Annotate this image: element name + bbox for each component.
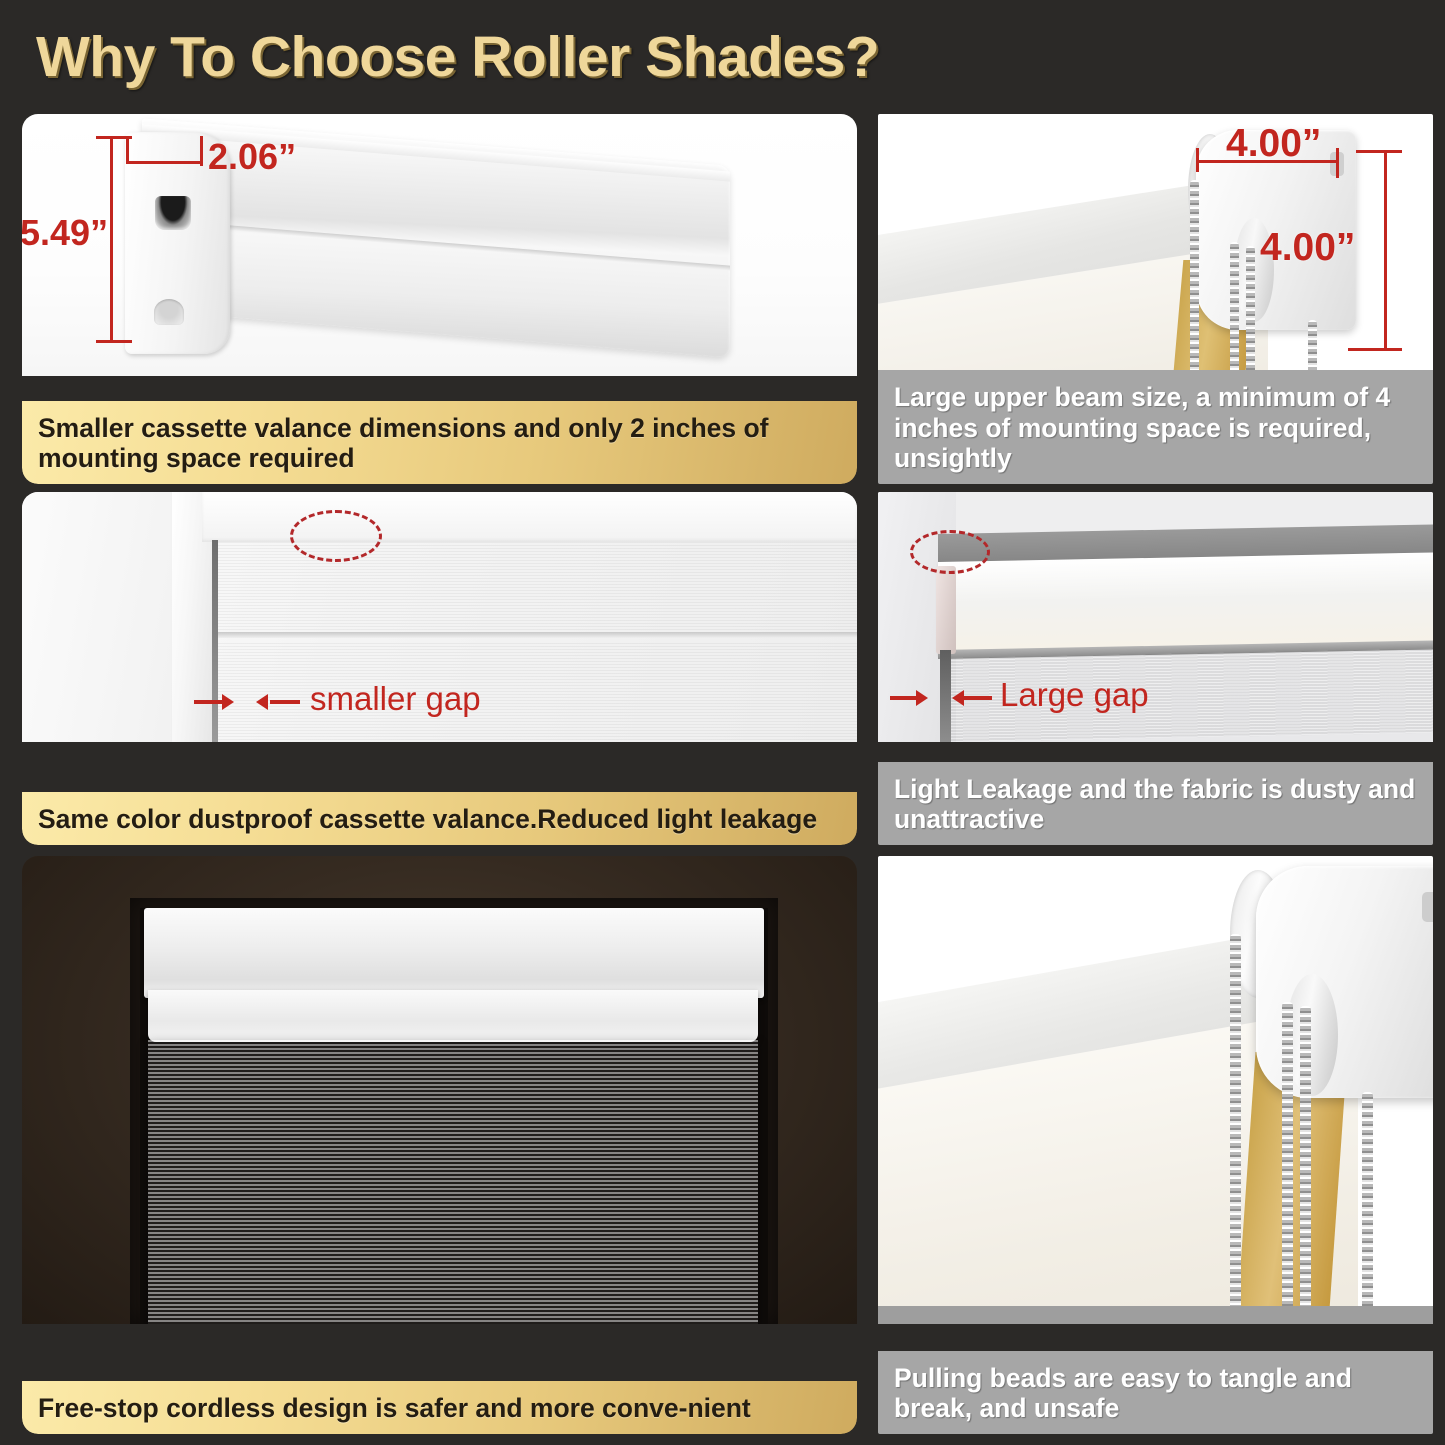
panel-top-right: 4.00” 4.00” Large upper beam size, a min… xyxy=(878,114,1433,484)
panel-bottom-right-image xyxy=(878,856,1433,1324)
bead-chain-2 xyxy=(1230,242,1239,376)
white-valance xyxy=(938,552,1433,654)
valance-knob-upper xyxy=(155,196,191,230)
panel-bottom-left: Free-stop cordless design is safer and m… xyxy=(22,856,857,1434)
valance-lower-lip xyxy=(148,990,758,1042)
bead-chain-1 xyxy=(1230,934,1241,1324)
bead-chain-4 xyxy=(1362,1092,1373,1324)
panel-top-left-image: 2.06” 5.49” xyxy=(22,114,857,376)
roller-shade-fabric xyxy=(148,1040,758,1324)
panel-middle-left-caption: Same color dustproof cassette valance.Re… xyxy=(22,792,857,845)
side-gap xyxy=(212,540,218,742)
bead-chain-3 xyxy=(1300,1006,1311,1324)
page-title: Why To Choose Roller Shades? xyxy=(36,16,1036,98)
panel-bottom-left-image xyxy=(22,856,857,1324)
gap-callout-large-label: Large gap xyxy=(1000,676,1149,714)
panel-middle-left: smaller gap Same color dustproof cassett… xyxy=(22,492,857,845)
panel-middle-right-caption: Light Leakage and the fabric is dusty an… xyxy=(878,762,1433,845)
dimension-width-400-label: 4.00” xyxy=(1226,122,1321,166)
panel-top-right-image: 4.00” 4.00” xyxy=(878,114,1433,376)
panel-bottom-left-caption: Free-stop cordless design is safer and m… xyxy=(22,1381,857,1434)
infographic-root: Why To Choose Roller Shades? 2.06” xyxy=(0,0,1445,1445)
comparison-grid: 2.06” 5.49” Smaller cassette valance dim… xyxy=(0,108,1445,1438)
cassette-valance xyxy=(144,908,764,998)
panel-middle-right-image: Large gap xyxy=(878,492,1433,742)
bead-chain-4 xyxy=(1308,320,1317,376)
dimension-height-400-label: 4.00” xyxy=(1260,226,1355,270)
dashed-ellipse-icon xyxy=(910,530,990,574)
dashed-ellipse-icon xyxy=(290,510,382,562)
bracket-clip xyxy=(936,566,956,654)
roller-tube-lower xyxy=(1286,974,1338,1096)
panel-bottom-right-caption: Pulling beads are easy to tangle and bre… xyxy=(878,1351,1433,1434)
panel-middle-left-image: smaller gap xyxy=(22,492,857,742)
dimension-width-206-label: 2.06” xyxy=(208,136,296,178)
bead-chain-3 xyxy=(1246,246,1255,376)
bead-chain-1 xyxy=(1190,180,1199,376)
panel-middle-right: Large gap Light Leakage and the fabric i… xyxy=(878,492,1433,845)
panel-bottom-right: Pulling beads are easy to tangle and bre… xyxy=(878,856,1433,1434)
interior-wall xyxy=(22,492,187,742)
valance-knob-lower xyxy=(154,299,184,325)
panel-top-left: 2.06” 5.49” Smaller cassette valance dim… xyxy=(22,114,857,484)
gap-callout-smaller-label: smaller gap xyxy=(310,680,481,718)
panel-top-left-caption: Smaller cassette valance dimensions and … xyxy=(22,401,857,484)
panel-top-right-caption: Large upper beam size, a minimum of 4 in… xyxy=(878,370,1433,484)
dimension-height-549-label: 5.49” xyxy=(22,212,108,254)
bead-chain-2 xyxy=(1282,1002,1293,1324)
side-gap xyxy=(940,650,951,742)
photo-base-strip xyxy=(878,1306,1433,1324)
